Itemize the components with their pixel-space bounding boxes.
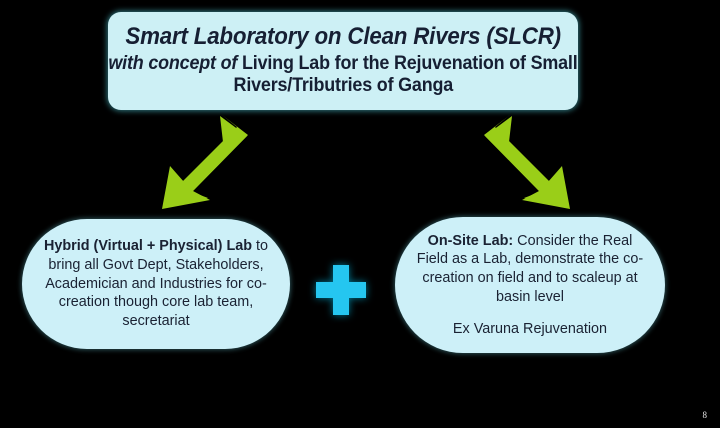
hybrid-lab-box: Hybrid (Virtual + Physical) Lab to bring… xyxy=(22,219,290,349)
title-subtitle-line: with concept of Living Lab for the Rejuv… xyxy=(108,53,577,74)
title-main-line: Smart Laboratory on Clean Rivers (SLCR) xyxy=(125,24,561,50)
plus-vertical-bar xyxy=(333,265,349,315)
onsite-lab-box: On-Site Lab: Consider the Real Field as … xyxy=(395,217,665,353)
hybrid-lab-text: Hybrid (Virtual + Physical) Lab to bring… xyxy=(38,237,274,331)
hybrid-lab-lead: Hybrid (Virtual + Physical) Lab xyxy=(44,238,252,254)
down-right-arrow-icon xyxy=(474,112,584,212)
slide-canvas: Smart Laboratory on Clean Rivers (SLCR) … xyxy=(0,0,720,428)
title-concept-prefix: with concept of xyxy=(108,52,237,74)
title-banner: Smart Laboratory on Clean Rivers (SLCR) … xyxy=(108,12,578,110)
title-subtitle-rest: Living Lab for the Rejuvenation of Small xyxy=(242,52,578,74)
onsite-lab-example: Ex Varuna Rejuvenation xyxy=(453,320,607,339)
down-left-arrow-icon xyxy=(148,112,258,212)
onsite-lab-text: On-Site Lab: Consider the Real Field as … xyxy=(413,232,647,307)
onsite-lab-lead: On-Site Lab: xyxy=(428,233,514,249)
page-number: 8 xyxy=(703,410,708,420)
plus-icon xyxy=(316,265,366,315)
title-subtitle-line-2: Rivers/Tributries of Ganga xyxy=(233,75,453,96)
